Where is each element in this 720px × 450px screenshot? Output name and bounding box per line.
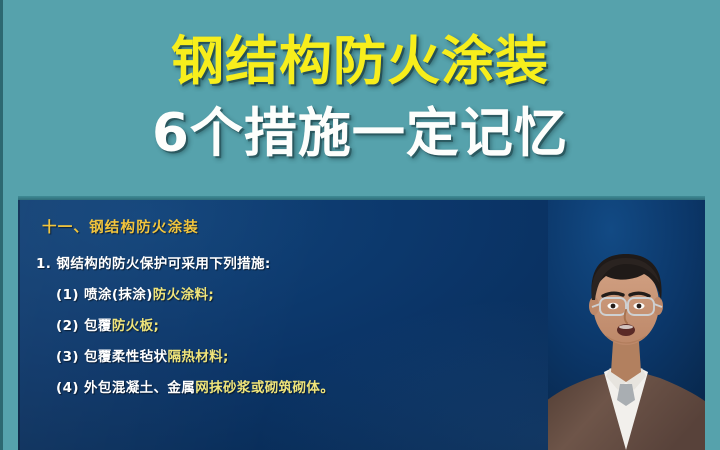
sub-item-2-plain: (2) 包覆 xyxy=(56,318,112,334)
panel-left-edge xyxy=(18,200,20,450)
list-item: (1) 喷涂(抹涂)防火涂料; xyxy=(56,283,536,303)
presenter-illustration xyxy=(548,200,705,450)
slide-sub-list: (1) 喷涂(抹涂)防火涂料; (2) 包覆防火板; (3) 包覆柔性毡状隔热材… xyxy=(36,283,536,396)
sub-item-2-highlight: 防火板; xyxy=(112,318,160,334)
slide-heading: 十一、钢结构防火涂装 xyxy=(42,216,536,237)
sub-item-3-highlight: 隔热材料; xyxy=(167,349,228,365)
sub-item-1-highlight: 防火涂料; xyxy=(153,287,214,303)
sub-item-4-plain: (4) 外包混凝土、金属 xyxy=(56,380,195,396)
list-item: (2) 包覆防火板; xyxy=(56,314,536,334)
slide-item-1: 1. 钢结构的防火保护可采用下列措施: xyxy=(36,252,536,272)
presenter-video xyxy=(548,200,705,450)
sub-item-3-plain: (3) 包覆柔性毡状 xyxy=(56,349,167,365)
list-item: (4) 外包混凝土、金属网抹砂浆或砌筑砌体。 xyxy=(56,376,536,396)
title-banner: 钢结构防火涂装 6个措施一定记忆 xyxy=(0,0,720,196)
banner-title-line-1: 钢结构防火涂装 xyxy=(0,33,720,91)
left-edge-strip xyxy=(0,0,3,450)
sub-item-1-plain: (1) 喷涂(抹涂) xyxy=(56,287,153,303)
slide-content: 十一、钢结构防火涂装 1. 钢结构的防火保护可采用下列措施: (1) 喷涂(抹涂… xyxy=(36,216,536,407)
video-frame: 钢结构防火涂装 6个措施一定记忆 十一、钢结构防火涂装 1. 钢结构的防火保护可… xyxy=(0,0,720,450)
sub-item-4-highlight: 网抹砂浆或砌筑砌体。 xyxy=(195,380,334,396)
list-item: (3) 包覆柔性毡状隔热材料; xyxy=(56,345,536,365)
right-gutter xyxy=(705,0,720,450)
banner-title-line-2: 6个措施一定记忆 xyxy=(0,105,720,163)
